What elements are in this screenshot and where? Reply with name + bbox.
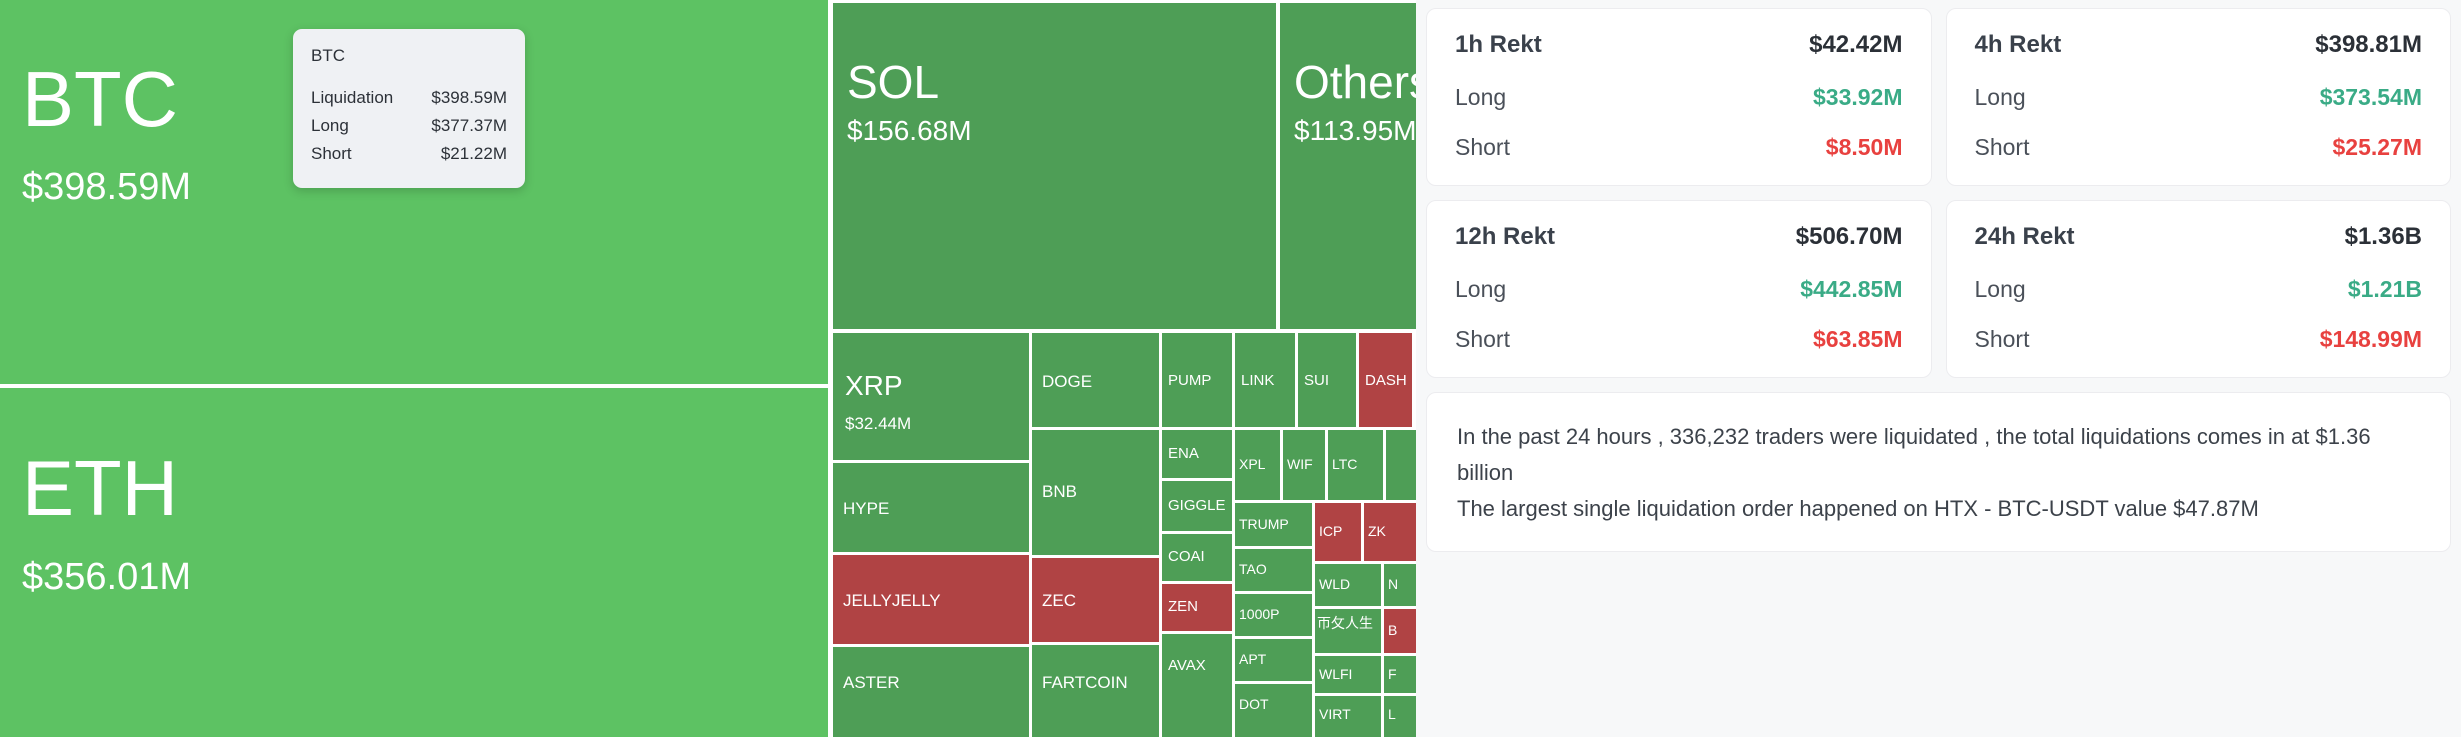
- tile-symbol: ZEN: [1168, 599, 1198, 614]
- summary-line-1: In the past 24 hours , 336,232 traders w…: [1457, 419, 2420, 491]
- tile-symbol: APT: [1239, 652, 1266, 666]
- tile-symbol: ZK: [1368, 524, 1386, 538]
- tile-symbol: LTC: [1332, 457, 1357, 471]
- treemap-tile-fartcoin[interactable]: FARTCOIN: [1032, 645, 1159, 737]
- treemap-tile-b[interactable]: B: [1384, 609, 1416, 653]
- liquidation-summary-card: In the past 24 hours , 336,232 traders w…: [1426, 392, 2451, 552]
- tooltip-row-long: Long $377.37M: [311, 112, 507, 140]
- long-value: $1.21B: [2348, 276, 2422, 303]
- treemap-tile-cjk[interactable]: 帀攵人生: [1315, 609, 1381, 653]
- treemap-tile-hype[interactable]: HYPE: [833, 463, 1029, 552]
- card-header-row: 24h Rekt $1.36B: [1975, 223, 2423, 251]
- treemap-tile-1000p[interactable]: 1000P: [1235, 594, 1312, 636]
- card-total-value: $398.81M: [2315, 31, 2422, 59]
- tile-value: $356.01M: [22, 558, 191, 596]
- card-header-row: 1h Rekt $42.42M: [1455, 31, 1903, 59]
- tile-value: $156.68M: [847, 117, 972, 145]
- short-label: Short: [1975, 326, 2030, 353]
- tile-symbol: ETH: [22, 449, 178, 527]
- liquidation-treemap[interactable]: BTC $398.59M ETH $356.01M SOL $156.68M O…: [0, 0, 1416, 737]
- treemap-tooltip: BTC Liquidation $398.59M Long $377.37M S…: [293, 29, 525, 188]
- card-title: 1h Rekt: [1455, 31, 1542, 59]
- card-header-row: 12h Rekt $506.70M: [1455, 223, 1903, 251]
- tile-symbol: ZEC: [1042, 592, 1076, 609]
- rekt-cards-grid: 1h Rekt $42.42M Long $33.92M Short $8.50…: [1426, 8, 2451, 378]
- tile-symbol: JELLYJELLY: [843, 592, 941, 609]
- treemap-tile-n[interactable]: N: [1384, 564, 1416, 606]
- short-label: Short: [1455, 134, 1510, 161]
- tile-symbol: LINK: [1241, 373, 1274, 388]
- tooltip-short-value: $21.22M: [441, 140, 507, 168]
- tile-symbol: ASTER: [843, 674, 900, 691]
- card-short-row: Short $8.50M: [1455, 134, 1903, 161]
- short-value: $8.50M: [1826, 134, 1903, 161]
- treemap-tile-icp[interactable]: ICP: [1315, 503, 1361, 561]
- tooltip-row-liquidation: Liquidation $398.59M: [311, 84, 507, 112]
- tile-symbol: B: [1388, 623, 1397, 637]
- tile-symbol: HYPE: [843, 500, 889, 517]
- treemap-tile-xpl[interactable]: XPL: [1235, 430, 1280, 500]
- tile-symbol: XRP: [845, 372, 903, 400]
- tile-symbol: DOGE: [1042, 373, 1092, 390]
- card-long-row: Long $33.92M: [1455, 84, 1903, 111]
- treemap-tile-eth[interactable]: ETH $356.01M: [0, 388, 828, 737]
- tooltip-liquidation-value: $398.59M: [431, 84, 507, 112]
- tile-value: $113.95M: [1294, 117, 1416, 145]
- card-total-value: $506.70M: [1796, 223, 1903, 251]
- treemap-tile-ltc[interactable]: LTC: [1328, 430, 1383, 500]
- treemap-tile-xrp[interactable]: XRP $32.44M: [833, 333, 1029, 460]
- tile-value: $398.59M: [22, 168, 191, 206]
- card-total-value: $1.36B: [2345, 223, 2422, 251]
- treemap-tile-l[interactable]: L: [1384, 696, 1416, 737]
- treemap-tile-tao[interactable]: TAO: [1235, 549, 1312, 591]
- tile-symbol: TAO: [1239, 562, 1267, 576]
- tile-symbol: SUI: [1304, 373, 1329, 388]
- short-value: $63.85M: [1813, 326, 1903, 353]
- tile-symbol: L: [1388, 707, 1396, 721]
- tooltip-row-short: Short $21.22M: [311, 140, 507, 168]
- tile-symbol: GIGGLE: [1168, 498, 1226, 513]
- tile-symbol: AVAX: [1168, 658, 1206, 673]
- long-label: Long: [1975, 276, 2026, 303]
- tile-symbol: ENA: [1168, 446, 1199, 461]
- card-title: 12h Rekt: [1455, 223, 1555, 251]
- treemap-tile-bnb[interactable]: BNB: [1032, 430, 1159, 555]
- long-value: $33.92M: [1813, 84, 1903, 111]
- tile-symbol: SOL: [847, 59, 939, 105]
- card-long-row: Long $442.85M: [1455, 276, 1903, 303]
- tile-symbol: XPL: [1239, 457, 1265, 471]
- treemap-tile-ena[interactable]: ENA: [1162, 430, 1232, 478]
- treemap-tile-dash[interactable]: DASH: [1359, 333, 1412, 427]
- card-title: 24h Rekt: [1975, 223, 2075, 251]
- treemap-tile-jellyjelly[interactable]: JELLYJELLY: [833, 555, 1029, 644]
- long-value: $373.54M: [2320, 84, 2422, 111]
- tile-symbol: FARTCOIN: [1042, 674, 1128, 691]
- card-title: 4h Rekt: [1975, 31, 2062, 59]
- short-label: Short: [1455, 326, 1510, 353]
- tile-symbol: WIF: [1287, 457, 1313, 471]
- treemap-tile-link[interactable]: LINK: [1235, 333, 1295, 427]
- card-short-row: Short $148.99M: [1975, 326, 2423, 353]
- treemap-tile-others[interactable]: Others $113.95M: [1280, 3, 1416, 329]
- liquidation-dashboard: BTC $398.59M ETH $356.01M SOL $156.68M O…: [0, 0, 2461, 737]
- card-short-row: Short $63.85M: [1455, 326, 1903, 353]
- treemap-tile-apt[interactable]: APT: [1235, 639, 1312, 681]
- treemap-tile-wld[interactable]: WLD: [1315, 564, 1381, 606]
- tile-symbol: N: [1388, 577, 1398, 591]
- long-label: Long: [1455, 276, 1506, 303]
- treemap-tile-dot[interactable]: DOT: [1235, 684, 1312, 737]
- treemap-tile-sol[interactable]: SOL $156.68M: [833, 3, 1276, 329]
- card-header-row: 4h Rekt $398.81M: [1975, 31, 2423, 59]
- short-value: $148.99M: [2320, 326, 2422, 353]
- tile-symbol: WLD: [1319, 577, 1350, 591]
- rekt-card-1h[interactable]: 1h Rekt $42.42M Long $33.92M Short $8.50…: [1426, 8, 1932, 186]
- rekt-stats-panel: 1h Rekt $42.42M Long $33.92M Short $8.50…: [1416, 0, 2461, 737]
- tile-symbol: PUMP: [1168, 373, 1211, 388]
- card-long-row: Long $373.54M: [1975, 84, 2423, 111]
- rekt-card-4h[interactable]: 4h Rekt $398.81M Long $373.54M Short $25…: [1946, 8, 2452, 186]
- short-label: Short: [1975, 134, 2030, 161]
- card-total-value: $42.42M: [1809, 31, 1902, 59]
- treemap-tile-wlfi[interactable]: WLFI: [1315, 656, 1381, 693]
- treemap-tile-zec[interactable]: ZEC: [1032, 558, 1159, 642]
- treemap-tile-aster[interactable]: ASTER: [833, 647, 1029, 737]
- treemap-tile-pump[interactable]: PUMP: [1162, 333, 1232, 427]
- treemap-tile-zen[interactable]: ZEN: [1162, 584, 1232, 631]
- tile-symbol: DASH: [1365, 373, 1407, 388]
- treemap-tile-coai[interactable]: COAI: [1162, 534, 1232, 581]
- tile-symbol: Others: [1294, 59, 1416, 105]
- long-value: $442.85M: [1800, 276, 1902, 303]
- tile-symbol: 1000P: [1239, 607, 1279, 621]
- tile-value: $32.44M: [845, 415, 911, 432]
- tooltip-short-label: Short: [311, 140, 352, 168]
- tile-symbol: TRUMP: [1239, 517, 1289, 531]
- tile-symbol: ICP: [1319, 524, 1342, 538]
- tile-symbol: WLFI: [1319, 667, 1352, 681]
- tile-symbol: F: [1388, 667, 1397, 681]
- long-label: Long: [1975, 84, 2026, 111]
- tile-symbol: 帀攵人生: [1317, 613, 1373, 634]
- tooltip-long-value: $377.37M: [431, 112, 507, 140]
- treemap-tile-wif[interactable]: WIF: [1283, 430, 1325, 500]
- long-label: Long: [1455, 84, 1506, 111]
- treemap-tile-sui[interactable]: SUI: [1298, 333, 1356, 427]
- treemap-tile-virt[interactable]: VIRT: [1315, 696, 1381, 737]
- treemap-tile-doge[interactable]: DOGE: [1032, 333, 1159, 427]
- tile-symbol: VIRT: [1319, 707, 1351, 721]
- treemap-tile-avax[interactable]: AVAX: [1162, 634, 1232, 737]
- tile-symbol: BNB: [1042, 483, 1077, 500]
- summary-line-2: The largest single liquidation order hap…: [1457, 491, 2420, 527]
- treemap-tile-f[interactable]: F: [1384, 656, 1416, 693]
- tile-symbol: BTC: [22, 60, 178, 138]
- tile-symbol: COAI: [1168, 549, 1205, 564]
- treemap-tile-zk[interactable]: ZK: [1364, 503, 1416, 561]
- card-short-row: Short $25.27M: [1975, 134, 2423, 161]
- tile-symbol: DOT: [1239, 697, 1269, 711]
- tooltip-liquidation-label: Liquidation: [311, 84, 393, 112]
- tooltip-long-label: Long: [311, 112, 349, 140]
- card-long-row: Long $1.21B: [1975, 276, 2423, 303]
- tooltip-title: BTC: [311, 46, 507, 66]
- treemap-tile-ltc-right[interactable]: [1386, 430, 1416, 500]
- treemap-tile-giggle[interactable]: GIGGLE: [1162, 481, 1232, 531]
- treemap-tile-trump[interactable]: TRUMP: [1235, 503, 1312, 546]
- rekt-card-24h[interactable]: 24h Rekt $1.36B Long $1.21B Short $148.9…: [1946, 200, 2452, 378]
- short-value: $25.27M: [2332, 134, 2422, 161]
- rekt-card-12h[interactable]: 12h Rekt $506.70M Long $442.85M Short $6…: [1426, 200, 1932, 378]
